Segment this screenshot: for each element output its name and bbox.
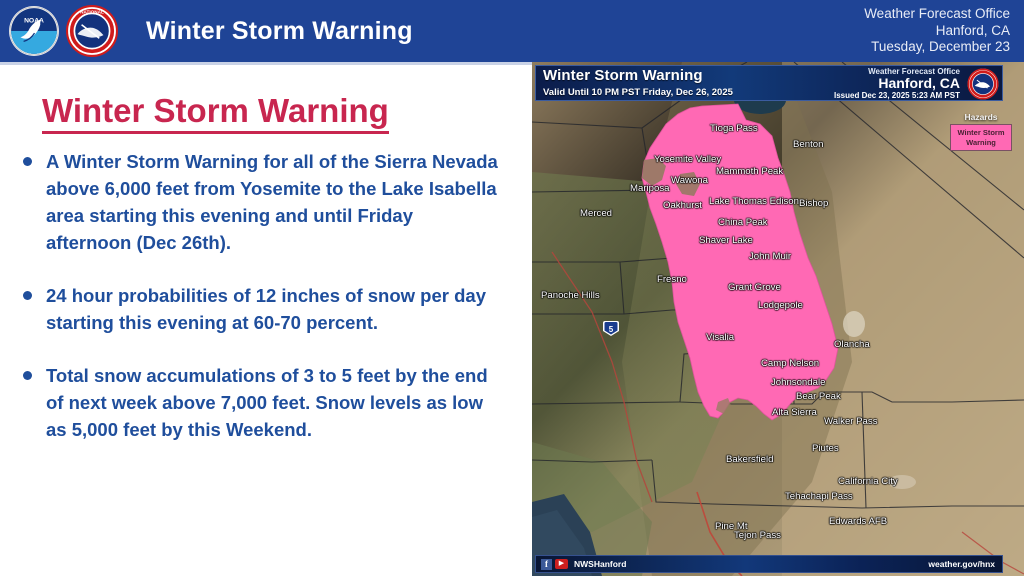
list-item: 24 hour probabilities of 12 inches of sn… — [20, 282, 520, 336]
map-label: Bishop — [799, 198, 828, 209]
slide-root: NOAA NATIONAL Winter Storm Warning Weath… — [0, 0, 1024, 576]
map-banner-title: Winter Storm Warning — [543, 67, 703, 84]
bullet-text: A Winter Storm Warning for all of the Si… — [46, 148, 501, 256]
page-title: Winter Storm Warning — [42, 92, 389, 134]
youtube-icon[interactable]: ▶ — [555, 559, 568, 569]
map-label: Olancha — [834, 339, 870, 350]
map-label: Wawona — [671, 175, 708, 186]
nws-logo — [967, 68, 999, 100]
map-label: Alta Sierra — [772, 407, 817, 418]
map-label: Fresno — [657, 274, 687, 285]
header-office-block: Weather Forecast Office Hanford, CA Tues… — [864, 6, 1010, 56]
map-label: Tioga Pass — [710, 123, 758, 134]
map-label: Oakhurst — [663, 200, 702, 211]
map-label: John Muir — [749, 251, 791, 262]
map-label: Grant Grove — [728, 282, 781, 293]
map-label: Yosemite Valley — [654, 154, 721, 165]
hazards-legend-title: Hazards — [950, 112, 1012, 122]
list-item: A Winter Storm Warning for all of the Si… — [20, 148, 520, 256]
map-banner-valid: Valid Until 10 PM PST Friday, Dec 26, 20… — [543, 87, 733, 98]
bullet-dot-icon — [23, 291, 32, 300]
map-label: Bakersfield — [726, 454, 773, 465]
svg-text:NOAA: NOAA — [24, 18, 44, 25]
map-label: Johnsondale — [771, 377, 825, 388]
hazards-legend-item: Winter Storm Warning — [950, 124, 1012, 151]
map-label: Lodgepole — [758, 300, 803, 311]
map-label: Mariposa — [630, 183, 669, 194]
warning-map[interactable]: 5 Tioga PassBentonYosemite ValleyMammoth… — [532, 62, 1024, 576]
map-label: Piutes — [812, 443, 839, 454]
map-banner-issued: Issued Dec 23, 2025 5:23 AM PST — [834, 91, 960, 100]
map-label: Camp Nelson — [761, 358, 819, 369]
header-date: Tuesday, December 23 — [864, 39, 1010, 56]
svg-text:NATIONAL: NATIONAL — [80, 9, 104, 14]
map-label: Benton — [793, 139, 823, 150]
social-handle: NWSHanford — [574, 559, 626, 569]
map-label: Lake Thomas Edison — [709, 196, 799, 207]
page-header: NOAA NATIONAL Winter Storm Warning Weath… — [0, 0, 1024, 62]
bullet-list: A Winter Storm Warning for all of the Si… — [20, 148, 520, 469]
map-label: Tehachapi Pass — [785, 491, 853, 502]
map-label: California City — [838, 476, 898, 487]
map-label: Merced — [580, 208, 612, 219]
map-label: Tejon Pass — [734, 530, 781, 541]
hazards-legend: Hazards Winter Storm Warning — [950, 112, 1012, 151]
map-banner: Winter Storm Warning Valid Until 10 PM P… — [535, 65, 1003, 101]
bullet-dot-icon — [23, 157, 32, 166]
bullet-text: 24 hour probabilities of 12 inches of sn… — [46, 282, 501, 336]
svg-text:5: 5 — [609, 325, 614, 334]
map-label: Mammoth Peak — [716, 166, 783, 177]
bullet-text: Total snow accumulations of 3 to 5 feet … — [46, 362, 501, 443]
content-area: Winter Storm Warning A Winter Storm Warn… — [0, 65, 528, 576]
map-footer: f ▶ NWSHanford weather.gov/hnx — [535, 555, 1003, 573]
header-office: Weather Forecast Office — [864, 6, 1010, 23]
map-label: Walker Pass — [824, 416, 878, 427]
noaa-logo: NOAA — [8, 5, 60, 57]
list-item: Total snow accumulations of 3 to 5 feet … — [20, 362, 520, 443]
map-label: Visalia — [706, 332, 734, 343]
header-location: Hanford, CA — [864, 23, 1010, 40]
map-label: Bear Peak — [796, 391, 841, 402]
map-label: Panoche Hills — [541, 290, 600, 301]
facebook-icon[interactable]: f — [541, 559, 552, 570]
bullet-dot-icon — [23, 371, 32, 380]
map-label: Edwards AFB — [829, 516, 887, 527]
map-label: China Peak — [718, 217, 768, 228]
map-banner-wfo: Hanford, CA — [878, 76, 960, 91]
nws-logo: NATIONAL — [66, 5, 118, 57]
map-url: weather.gov/hnx — [928, 559, 995, 569]
header-title: Winter Storm Warning — [146, 17, 413, 46]
map-label: Shaver Lake — [699, 235, 753, 246]
header-logos: NOAA NATIONAL — [8, 5, 118, 57]
